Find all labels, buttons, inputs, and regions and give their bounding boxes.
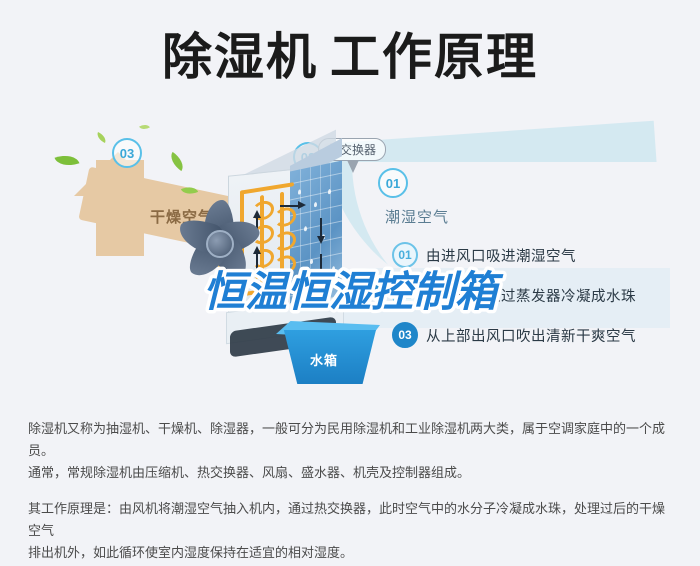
process-step-02: 02 潮湿空气经过蒸发器冷凝成水珠 [392, 282, 692, 308]
description-p1-line2: 通常，常规除湿机由压缩机、热交换器、风扇、盛水器、机壳及控制器组成。 [28, 465, 470, 480]
page-title: 除湿机工作原理 [0, 26, 700, 88]
step-number-badge: 02 [392, 282, 418, 308]
page-title-part2: 工作原理 [330, 29, 538, 85]
step-number-badge: 03 [392, 322, 418, 348]
water-tank-label: 水箱 [310, 350, 338, 369]
step-text: 从上部出风口吹出清新干爽空气 [426, 325, 636, 346]
description-paragraph-2: 其工作原理是：由风机将潮湿空气抽入机内，通过热交换器，此时空气中的水分子冷凝成水… [28, 498, 676, 564]
description-p1-line1: 除湿机又称为抽湿机、干燥机、除湿器，一般可分为民用除湿机和工业除湿机两大类，属于… [28, 421, 665, 458]
step-number-badge: 01 [392, 242, 418, 268]
process-step-01: 01 由进风口吸进潮湿空气 [392, 242, 692, 268]
description-p2-line1: 其工作原理是：由风机将潮湿空气抽入机内，通过热交换器，此时空气中的水分子冷凝成水… [28, 501, 665, 538]
step-text: 由进风口吸进潮湿空气 [426, 245, 576, 266]
diagram-badge-03: 03 [112, 138, 142, 168]
dehumidifier-machine: 水箱 [170, 148, 380, 378]
description-p2-line2: 排出机外，如此循环使室内湿度保持在适宜的相对湿度。 [28, 545, 353, 560]
diagram-badge-01: 01 [378, 168, 408, 198]
leaf-icon [139, 122, 150, 132]
leaf-icon [95, 132, 108, 143]
page-title-part1: 除湿机 [162, 29, 318, 85]
fan-icon [170, 194, 266, 290]
step-text: 潮湿空气经过蒸发器冷凝成水珠 [426, 285, 636, 306]
description-block: 除湿机又称为抽湿机、干燥机、除湿器，一般可分为民用除湿机和工业除湿机两大类，属于… [28, 418, 676, 566]
description-paragraph-1: 除湿机又称为抽湿机、干燥机、除湿器，一般可分为民用除湿机和工业除湿机两大类，属于… [28, 418, 676, 484]
process-step-03: 03 从上部出风口吹出清新干爽空气 [392, 322, 692, 348]
page-root: 除湿机工作原理 干燥空气 03 02 01 热交换器 潮湿空气 [0, 0, 700, 566]
process-steps-list: 01 由进风口吸进潮湿空气 02 潮湿空气经过蒸发器冷凝成水珠 03 从上部出风… [392, 242, 692, 362]
humid-air-label: 潮湿空气 [385, 206, 449, 227]
